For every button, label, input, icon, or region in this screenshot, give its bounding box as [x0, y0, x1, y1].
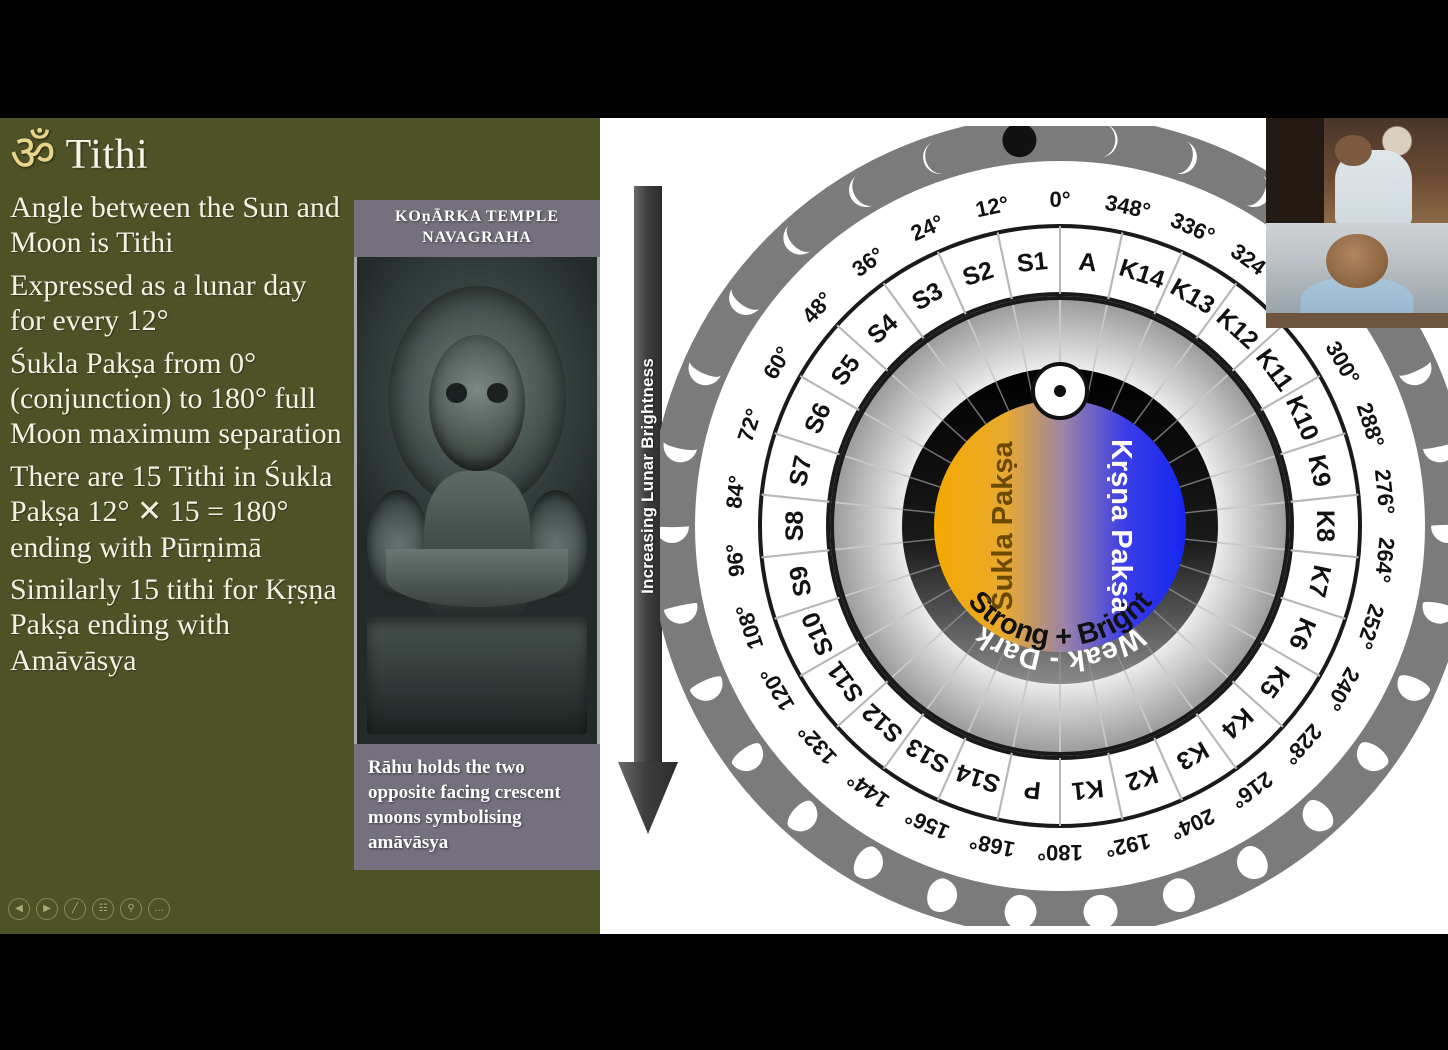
- bullet-list: Angle between the Sun and Moon is Tithi …: [10, 190, 346, 678]
- om-icon: ॐ: [10, 128, 56, 178]
- sculpture-face: [429, 335, 525, 471]
- participant-video-bottom[interactable]: [1266, 223, 1448, 328]
- list-item: Angle between the Sun and Moon is Tithi: [10, 190, 346, 261]
- presenter-toolbar[interactable]: ◀ ▶ ╱ ☷ ⚲ …: [8, 898, 170, 920]
- arrow-label-wrap: Increasing Lunar Brightness: [634, 186, 662, 766]
- screen: ॐ Tithi Angle between the Sun and Moon i…: [0, 0, 1448, 1050]
- konarka-caption: KOṇĀRKA TEMPLE NAVAGRAHA: [354, 200, 600, 257]
- list-item: Expressed as a lunar day for every 12°: [10, 268, 346, 339]
- sculpture-eye-left: [446, 383, 468, 402]
- list-item: Similarly 15 tithi for Kṛṣṇa Pakṣa endin…: [10, 572, 346, 678]
- navagraha-sculpture-image: [354, 257, 600, 744]
- zoom-button[interactable]: ⚲: [120, 898, 142, 920]
- tithi-sector-label: A: [1077, 248, 1098, 278]
- degree-tick-label: 264°: [1370, 536, 1400, 584]
- slide-title-row: ॐ Tithi: [10, 124, 346, 186]
- degree-tick-label: 0°: [1049, 187, 1070, 212]
- tithi-sector-label: K8: [1311, 510, 1339, 542]
- krsna-paksa-label: Kṛṣṇa Pakṣa: [1105, 439, 1137, 614]
- pen-button[interactable]: ╱: [64, 898, 86, 920]
- degree-tick-label: 96°: [721, 542, 749, 578]
- konarka-caption-line1: KOṇĀRKA TEMPLE: [358, 207, 596, 228]
- cam-person-head: [1335, 135, 1371, 167]
- tithi-sector-label: K1: [1070, 774, 1105, 805]
- degree-tick-label: 276°: [1370, 468, 1400, 516]
- sculpture-eye-right: [487, 383, 509, 402]
- previous-slide-button[interactable]: ◀: [8, 898, 30, 920]
- degree-tick-label: 180°: [1037, 840, 1083, 865]
- all-slides-button[interactable]: ☷: [92, 898, 114, 920]
- sculpture-lotus-base: [386, 549, 568, 607]
- sun-symbol-icon: [1033, 364, 1087, 418]
- next-slide-button[interactable]: ▶: [36, 898, 58, 920]
- tithi-sector-label: S1: [1016, 247, 1049, 278]
- cam-background-left: [1266, 118, 1324, 223]
- rahu-caption: Rāhu holds the two opposite facing cresc…: [354, 744, 600, 870]
- arrow-label: Increasing Lunar Brightness: [638, 358, 658, 594]
- cam-person-head: [1326, 234, 1388, 289]
- video-tiles: [1266, 118, 1448, 328]
- slide-text-column: ॐ Tithi Angle between the Sun and Moon i…: [0, 118, 352, 934]
- more-options-button[interactable]: …: [148, 898, 170, 920]
- tithi-sector-label: S8: [781, 511, 809, 542]
- list-item: Śukla Pakṣa from 0° (conjunction) to 180…: [10, 346, 346, 452]
- participant-video-top[interactable]: [1266, 118, 1448, 223]
- tithi-sector-label: P: [1023, 775, 1043, 805]
- degree-tick-label: 84°: [721, 474, 749, 510]
- sculpture-pedestal: [367, 617, 588, 734]
- cam-desk: [1266, 313, 1448, 328]
- presentation-slide: ॐ Tithi Angle between the Sun and Moon i…: [0, 118, 1448, 934]
- konarka-caption-line2: NAVAGRAHA: [358, 228, 596, 249]
- page-title: Tithi: [66, 131, 149, 179]
- konarka-figure: KOṇĀRKA TEMPLE NAVAGRAHA Rāhu holds the …: [354, 200, 600, 870]
- sukla-paksa-label: Śukla Pakṣa: [985, 440, 1019, 610]
- list-item: There are 15 Tithi in Śukla Pakṣa 12° ✕ …: [10, 459, 346, 565]
